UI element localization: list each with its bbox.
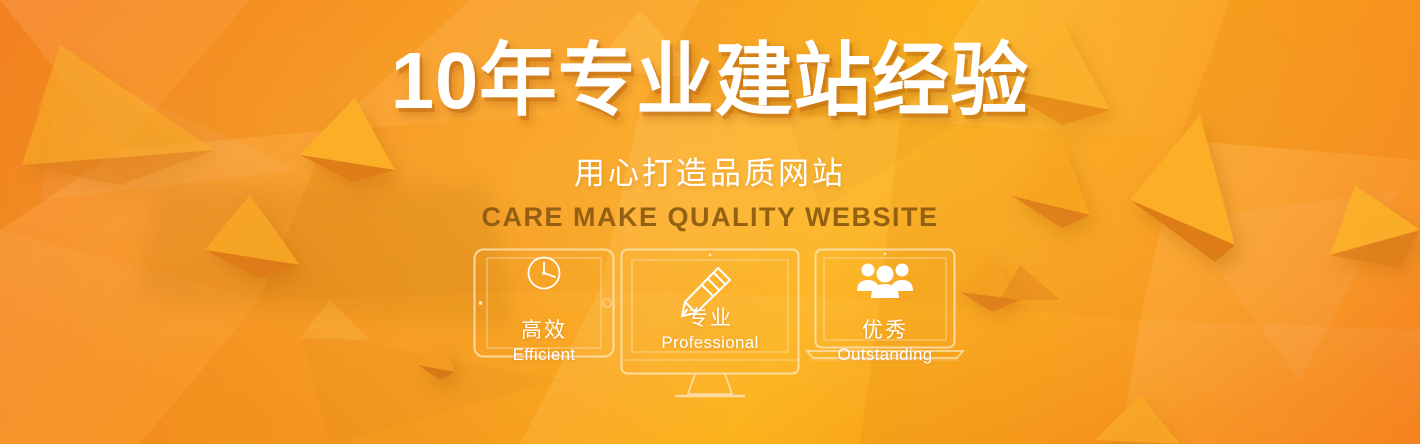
- feature-card-efficient[interactable]: [473, 248, 615, 358]
- feature-devices-row: 高效 Efficient 专业 Professional 优秀 Outstand…: [0, 248, 1420, 408]
- laptop-illustration: [805, 248, 965, 366]
- monitor-illustration: [620, 248, 800, 400]
- subtitle-english: CARE MAKE QUALITY WEBSITE: [481, 202, 938, 232]
- headline-container: 10年专业建站经验: [0, 38, 1420, 124]
- feature-card-outstanding[interactable]: [805, 248, 965, 366]
- page-title: 10年专业建站经验: [391, 38, 1029, 124]
- feature-card-professional[interactable]: [620, 248, 800, 400]
- subtitle-chinese: 用心打造品质网站: [574, 156, 846, 191]
- tablet-illustration: [473, 248, 615, 358]
- subtitle-en-container: CARE MAKE QUALITY WEBSITE: [0, 201, 1420, 233]
- clock-icon: [529, 258, 560, 289]
- subtitle-cn-container: 用心打造品质网站: [0, 155, 1420, 193]
- people-group-icon: [857, 264, 913, 299]
- promo-banner: 10年专业建站经验 用心打造品质网站 CARE MAKE QUALITY WEB…: [0, 0, 1420, 444]
- pencil-icon: [682, 268, 730, 316]
